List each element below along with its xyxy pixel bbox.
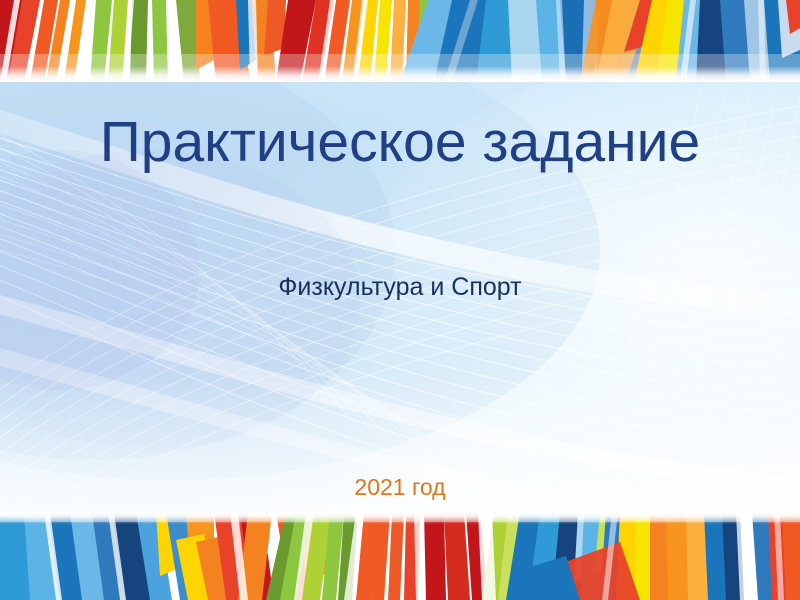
bottom-band-shards — [0, 512, 800, 600]
slide-subtitle: Физкультура и Спорт — [0, 272, 800, 302]
slide-year: 2021 год — [0, 474, 800, 502]
top-band-shards — [0, 0, 800, 82]
bottom-decoration-band — [0, 512, 800, 600]
presentation-slide: Практическое задание Физкультура и Спорт… — [0, 0, 800, 600]
slide-title: Практическое задание — [0, 112, 800, 174]
top-decoration-band — [0, 0, 800, 82]
